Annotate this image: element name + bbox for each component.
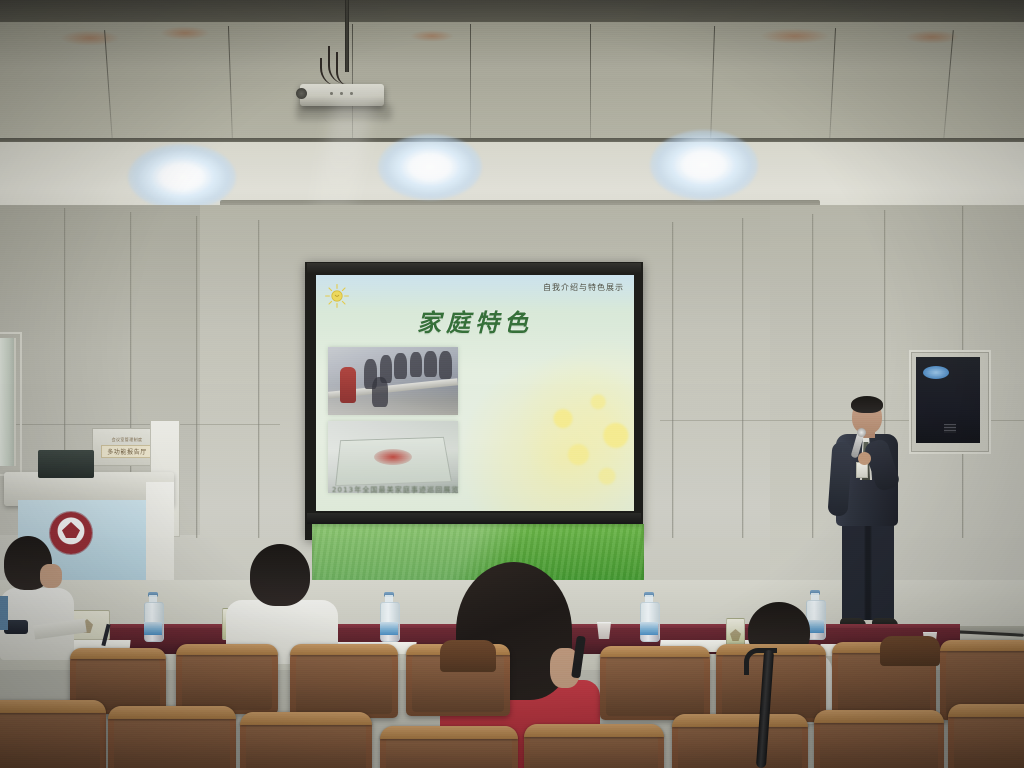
photo-figure-red [340, 367, 356, 403]
ceiling-stain [760, 28, 830, 44]
seat-frame [70, 648, 166, 659]
slide-header-text: 自我介绍与特色展示 [543, 282, 624, 293]
attendee-hair [250, 544, 310, 606]
projector-indicator [330, 92, 333, 95]
water-bottle [640, 592, 658, 640]
wall-panel-seam [258, 220, 260, 538]
ceiling-upper-slab [0, 22, 1024, 152]
projector-indicator [340, 92, 343, 95]
projector-shadow [296, 104, 392, 120]
attendee-left [0, 536, 74, 656]
photo-crowd-figure [424, 351, 437, 377]
screen-top-roller [307, 263, 641, 273]
photo-crowd-figure [372, 377, 388, 407]
attendee-lanyard [0, 596, 8, 630]
seat-frame [600, 646, 710, 657]
slide-decor-bubbles [530, 385, 634, 505]
ceiling-projector [300, 84, 384, 106]
lectern-laptop[interactable] [38, 450, 94, 478]
bottle-label [144, 622, 162, 635]
wall-sign-line2: 多功能报告厅 [101, 445, 153, 458]
seat-shadow [880, 636, 940, 666]
seat-frame [108, 706, 236, 719]
wall-panel-seam [196, 216, 198, 538]
display-speaker-grill-icon [944, 424, 956, 433]
wall-panel-seam [742, 218, 744, 538]
seat[interactable] [600, 646, 710, 720]
ceiling-stain [160, 26, 210, 40]
photo-crowd-figure [410, 352, 422, 377]
window-frame [0, 332, 22, 476]
slide-title: 家庭特色 [316, 303, 634, 338]
slide-photo-banner [328, 421, 458, 493]
microphone-head-icon [857, 428, 866, 437]
wall-panel-seam [672, 222, 674, 538]
attendee-face [40, 564, 62, 588]
ceiling-seam [590, 24, 591, 146]
projector-indicator [350, 92, 353, 95]
bottle-label [380, 622, 398, 635]
seat-frame [176, 644, 278, 655]
seat-frame [814, 710, 944, 723]
ceiling-stain [410, 30, 454, 42]
presenter-speaker [828, 396, 912, 638]
ceiling-stain [60, 30, 120, 46]
ceiling-light [650, 130, 758, 200]
seat-frame [672, 714, 808, 727]
ceiling-light [128, 144, 236, 210]
attendee-device [571, 636, 586, 679]
display-logo-icon [923, 366, 949, 379]
water-bottle [380, 592, 398, 640]
seat[interactable] [290, 644, 398, 718]
wall-horizontal-seam [0, 424, 280, 425]
seat-frame [380, 726, 518, 739]
presenter-hair [851, 396, 883, 413]
projector-lens-icon [296, 88, 307, 99]
presenter-hand [858, 452, 871, 465]
slide-footer-text: 2013年全国最美家庭事迹巡回展览 [332, 485, 460, 495]
ceiling-light [378, 134, 482, 200]
wall-panel-seam [812, 214, 814, 538]
seat-frame [948, 704, 1024, 717]
auditorium-photo: 会议室管理制度 多功能报告厅 自我介绍与特色展示 家庭特色 [0, 0, 1024, 768]
screen-bottom-bar [307, 513, 641, 524]
presenter-legs [842, 522, 894, 620]
bottle-label [640, 622, 658, 635]
photo-crowd-figure [394, 353, 407, 379]
ceiling-seam [470, 24, 471, 146]
photo-crowd-figure [439, 351, 452, 379]
seat-frame [290, 644, 398, 655]
wall-sign-line1: 会议室管理制度 [112, 437, 143, 443]
seat-frame [940, 640, 1024, 651]
seat-frame [240, 712, 372, 725]
slide-photo-crowd [328, 347, 458, 415]
seat-frame [0, 700, 106, 713]
seat-frame [524, 724, 664, 737]
projected-slide: 自我介绍与特色展示 家庭特色 2013年全国最美家庭事迹巡回展览 [316, 275, 634, 511]
seat-shadow [440, 640, 496, 672]
photo-banner-emblem-icon [374, 449, 412, 465]
water-bottle [144, 592, 162, 640]
